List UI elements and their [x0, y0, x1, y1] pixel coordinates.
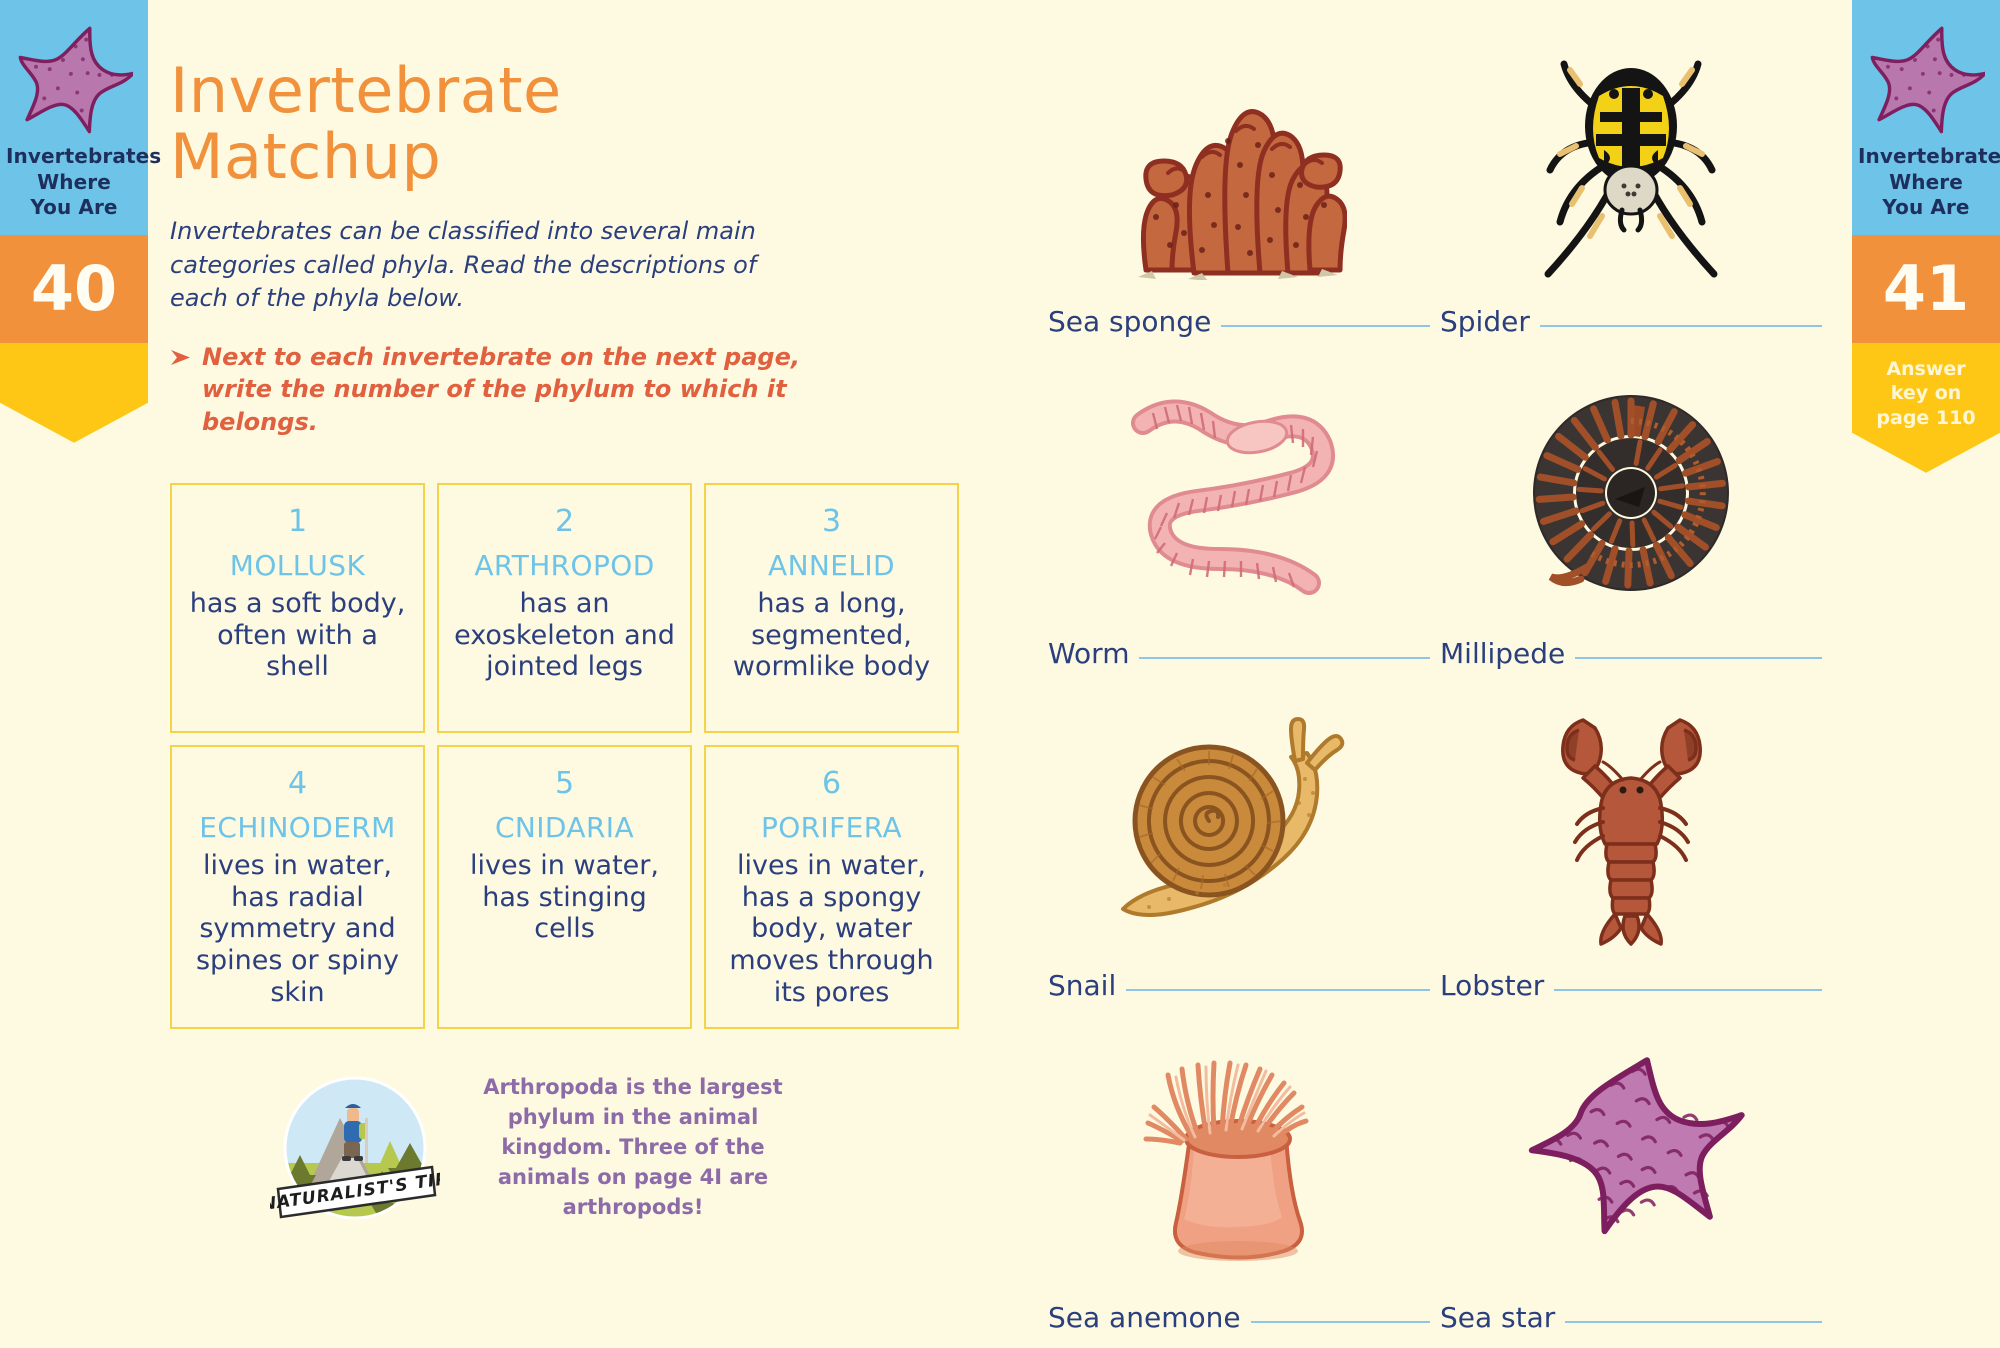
- answer-row-millipede: Millipede: [1440, 637, 1822, 684]
- answer-row-lobster: Lobster: [1440, 969, 1822, 1016]
- left-tab-footer: [0, 343, 148, 403]
- answer-blank-spider[interactable]: [1540, 325, 1822, 327]
- phylum-card-grid: 1 MOLLUSK has a soft body, often with a …: [170, 483, 960, 1029]
- tab-caption-line: Invertebrates: [6, 144, 142, 170]
- page-title-line2: Matchup: [170, 124, 960, 190]
- directive-text: Next to each invertebrate on the next pa…: [202, 341, 820, 439]
- animal-label: Spider: [1440, 305, 1530, 338]
- left-page-number-band: 40: [0, 235, 148, 343]
- answer-key-note-line: Answer: [1862, 357, 1990, 382]
- answer-blank-sea-anemone[interactable]: [1251, 1321, 1430, 1323]
- answer-row-sea-sponge: Sea sponge: [1048, 305, 1430, 352]
- phylum-card: 2 ARTHROPOD has an exoskeleton and joint…: [437, 483, 692, 733]
- answer-blank-millipede[interactable]: [1575, 657, 1822, 659]
- answer-row-spider: Spider: [1440, 305, 1822, 352]
- sea-anemone-icon: [1134, 1051, 1344, 1266]
- phylum-number: 4: [184, 769, 411, 799]
- sea-star-icon: [15, 18, 133, 136]
- phylum-name: MOLLUSK: [184, 549, 411, 582]
- phylum-description: lives in water, has radial symmetry and …: [184, 850, 411, 1009]
- animal-label: Worm: [1048, 637, 1129, 670]
- tab-caption-line: You Are: [1858, 195, 1994, 221]
- animal-cell-sea-anemone: Sea anemone: [1048, 1016, 1430, 1348]
- left-page: Invertebrate Matchup Invertebrates can b…: [148, 0, 1000, 1348]
- animal-cell-sea-sponge: Sea sponge: [1048, 20, 1430, 352]
- animal-label: Snail: [1048, 969, 1116, 1002]
- left-page-tab: Invertebrates Where You Are 40: [0, 0, 148, 403]
- animal-illustration: [1048, 1016, 1430, 1301]
- page-spread: Invertebrates Where You Are 40 Invertebr…: [0, 0, 2000, 1348]
- animal-label: Sea sponge: [1048, 305, 1211, 338]
- snail-icon: [1109, 717, 1369, 937]
- animal-illustration: [1048, 20, 1430, 305]
- phylum-description: has an exoskeleton and jointed legs: [451, 588, 678, 684]
- intro-text: Invertebrates can be classified into sev…: [170, 215, 810, 314]
- answer-row-worm: Worm: [1048, 637, 1430, 684]
- naturalists-tip-text: Arthropoda is the largest phylum in the …: [468, 1073, 798, 1222]
- answer-row-sea-anemone: Sea anemone: [1048, 1301, 1430, 1348]
- phylum-description: has a soft body, often with a shell: [184, 588, 411, 684]
- phylum-card: 1 MOLLUSK has a soft body, often with a …: [170, 483, 425, 733]
- right-tab-header: Invertebrates Where You Are: [1852, 0, 2000, 235]
- left-tab-caption: Invertebrates Where You Are: [6, 144, 142, 221]
- phylum-number: 5: [451, 769, 678, 799]
- tab-caption-line: You Are: [6, 195, 142, 221]
- phylum-number: 1: [184, 507, 411, 537]
- left-tab-header: Invertebrates Where You Are: [0, 0, 148, 235]
- spider-icon: [1516, 38, 1746, 288]
- animal-illustration: [1048, 684, 1430, 969]
- right-page-tab: Invertebrates Where You Are 41 Answer ke…: [1852, 0, 2000, 433]
- hiker-on-mountain-icon: NATURALIST'S TIP: [270, 1063, 440, 1233]
- animal-cell-spider: Spider: [1440, 20, 1822, 352]
- phylum-card: 6 PORIFERA lives in water, has a spongy …: [704, 745, 959, 1029]
- phylum-name: PORIFERA: [718, 811, 945, 844]
- answer-key-note-text: Answer key on page 110: [1862, 357, 1990, 431]
- animal-cell-sea-star: Sea star: [1440, 1016, 1822, 1348]
- phylum-card: 5 CNIDARIA lives in water, has stinging …: [437, 745, 692, 1029]
- phylum-description: lives in water, has a spongy body, water…: [718, 850, 945, 1009]
- phylum-name: CNIDARIA: [451, 811, 678, 844]
- answer-key-note-line: key on: [1862, 381, 1990, 406]
- answer-blank-sea-sponge[interactable]: [1221, 325, 1430, 327]
- sea-star-icon: [1867, 18, 1985, 136]
- animal-illustration: [1440, 1016, 1822, 1301]
- triangle-right-icon: [170, 348, 192, 368]
- earthworm-icon: [1109, 387, 1369, 602]
- sea-star-icon: [1514, 1051, 1749, 1266]
- answer-row-snail: Snail: [1048, 969, 1430, 1016]
- millipede-icon: [1506, 385, 1756, 605]
- tab-caption-line: Where: [1858, 170, 1994, 196]
- animal-illustration: [1048, 352, 1430, 637]
- sea-sponge-icon: [1132, 45, 1347, 280]
- page-number: 40: [31, 258, 117, 320]
- answer-blank-worm[interactable]: [1139, 657, 1430, 659]
- phylum-number: 6: [718, 769, 945, 799]
- animal-label: Sea star: [1440, 1301, 1555, 1334]
- phylum-description: lives in water, has stinging cells: [451, 850, 678, 946]
- animal-illustration: [1440, 684, 1822, 969]
- animal-illustration: [1440, 352, 1822, 637]
- page-number: 41: [1883, 258, 1969, 320]
- answer-key-note: Answer key on page 110: [1852, 343, 2000, 433]
- phylum-card: 4 ECHINODERM lives in water, has radial …: [170, 745, 425, 1029]
- animal-cell-millipede: Millipede: [1440, 352, 1822, 684]
- phylum-number: 3: [718, 507, 945, 537]
- animal-label: Millipede: [1440, 637, 1565, 670]
- animal-cell-snail: Snail: [1048, 684, 1430, 1016]
- directive-block: Next to each invertebrate on the next pa…: [170, 341, 820, 439]
- animal-cell-worm: Worm: [1048, 352, 1430, 684]
- phylum-name: ANNELID: [718, 549, 945, 582]
- animal-cell-lobster: Lobster: [1440, 684, 1822, 1016]
- phylum-card: 3 ANNELID has a long, segmented, wormlik…: [704, 483, 959, 733]
- animal-illustration: [1440, 20, 1822, 305]
- tab-caption-line: Where: [6, 170, 142, 196]
- answer-row-sea-star: Sea star: [1440, 1301, 1822, 1348]
- answer-blank-sea-star[interactable]: [1565, 1321, 1822, 1323]
- animal-grid: Sea sponge: [1048, 20, 1822, 1348]
- page-title-line1: Invertebrate: [170, 58, 960, 124]
- answer-blank-lobster[interactable]: [1554, 989, 1822, 991]
- phylum-name: ARTHROPOD: [451, 549, 678, 582]
- lobster-icon: [1539, 704, 1724, 949]
- tab-caption-line: Invertebrates: [1858, 144, 1994, 170]
- right-tab-caption: Invertebrates Where You Are: [1858, 144, 1994, 221]
- animal-label: Sea anemone: [1048, 1301, 1241, 1334]
- answer-blank-snail[interactable]: [1126, 989, 1430, 991]
- phylum-number: 2: [451, 507, 678, 537]
- animal-label: Lobster: [1440, 969, 1544, 1002]
- right-page: Sea sponge: [1000, 0, 1852, 1348]
- page-title: Invertebrate Matchup: [170, 58, 960, 189]
- answer-key-note-line: page 110: [1862, 406, 1990, 431]
- right-page-number-band: 41: [1852, 235, 2000, 343]
- phylum-name: ECHINODERM: [184, 811, 411, 844]
- phylum-description: has a long, segmented, wormlike body: [718, 588, 945, 684]
- naturalists-tip: NATURALIST'S TIP Arthropoda is the large…: [170, 1063, 960, 1233]
